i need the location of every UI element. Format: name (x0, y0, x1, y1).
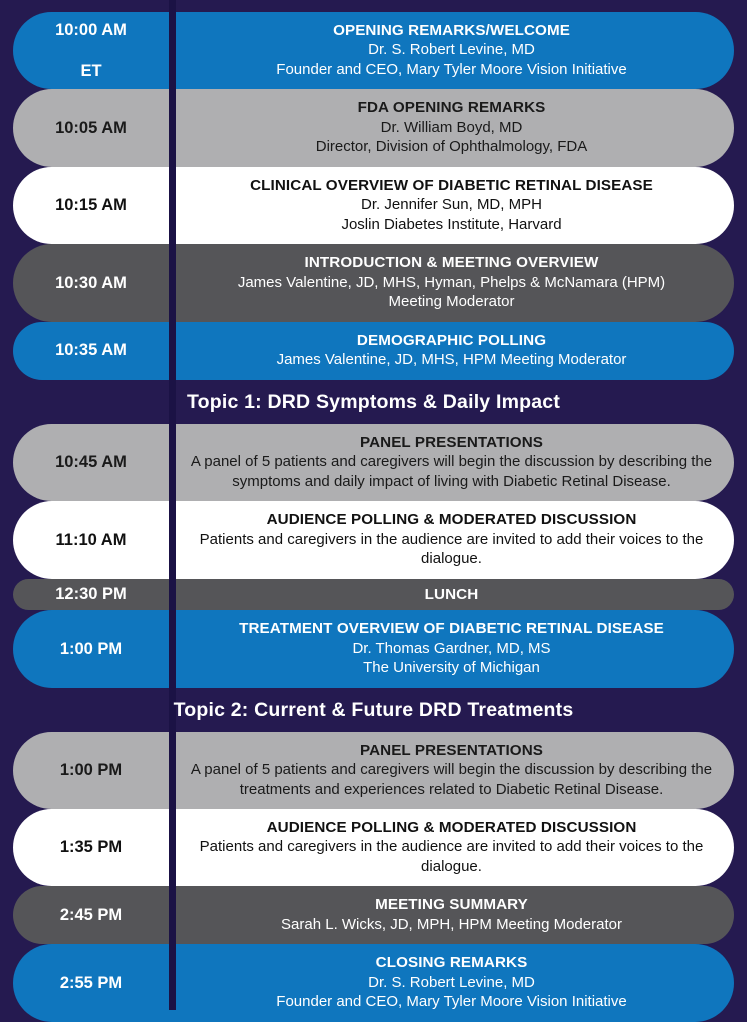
agenda-row: 10:15 AMCLINICAL OVERVIEW OF DIABETIC RE… (13, 167, 734, 244)
agenda-row-detail: Patients and caregivers in the audience … (183, 837, 720, 876)
agenda-row-detail: James Valentine, JD, MHS, Hyman, Phelps … (183, 273, 720, 293)
agenda-row-time-line: 10:45 AM (55, 452, 127, 473)
agenda-row-time-line: 2:45 PM (60, 905, 122, 926)
agenda-row: 10:35 AMDEMOGRAPHIC POLLINGJames Valenti… (13, 322, 734, 380)
agenda-row-time-line: 10:30 AM (55, 273, 127, 294)
agenda-row-detail: Meeting Moderator (183, 292, 720, 312)
agenda-row-title: DEMOGRAPHIC POLLING (183, 331, 720, 350)
agenda-row-title: LUNCH (183, 585, 720, 604)
agenda-row-title: CLINICAL OVERVIEW OF DIABETIC RETINAL DI… (183, 176, 720, 195)
agenda-row-title: PANEL PRESENTATIONS (183, 741, 720, 760)
agenda-row-time: 1:35 PM (13, 809, 169, 886)
agenda-row-title: INTRODUCTION & MEETING OVERVIEW (183, 253, 720, 272)
agenda-row-time-line: 12:30 PM (55, 584, 127, 605)
agenda-row-detail: Dr. Thomas Gardner, MD, MS (183, 639, 720, 659)
agenda-row-detail: Founder and CEO, Mary Tyler Moore Vision… (183, 992, 720, 1012)
agenda-row-title: MEETING SUMMARY (183, 895, 720, 914)
agenda-section: 10:00 AMETOPENING REMARKS/WELCOMEDr. S. … (0, 12, 747, 380)
agenda-row-detail: Dr. Jennifer Sun, MD, MPH (183, 195, 720, 215)
agenda-row-time-line: 10:15 AM (55, 195, 127, 216)
agenda-row-time: 10:15 AM (13, 167, 169, 244)
agenda-row-content: AUDIENCE POLLING & MODERATED DISCUSSIONP… (169, 809, 734, 886)
agenda-row-detail: Dr. S. Robert Levine, MD (183, 40, 720, 60)
agenda-row-time: 1:00 PM (13, 732, 169, 809)
agenda-row: 1:00 PMTREATMENT OVERVIEW OF DIABETIC RE… (13, 610, 734, 687)
agenda-row-detail: James Valentine, JD, MHS, HPM Meeting Mo… (183, 350, 720, 370)
agenda-row-content: AUDIENCE POLLING & MODERATED DISCUSSIONP… (169, 501, 734, 578)
agenda-row-title: PANEL PRESENTATIONS (183, 433, 720, 452)
agenda-row-content: CLINICAL OVERVIEW OF DIABETIC RETINAL DI… (169, 167, 734, 244)
agenda-row: 11:10 AMAUDIENCE POLLING & MODERATED DIS… (13, 501, 734, 578)
agenda-row: 1:35 PMAUDIENCE POLLING & MODERATED DISC… (13, 809, 734, 886)
agenda-row-time: 10:00 AMET (13, 12, 169, 89)
agenda-row-time-line: 10:05 AM (55, 118, 127, 139)
agenda-row: 2:45 PMMEETING SUMMARYSarah L. Wicks, JD… (13, 886, 734, 944)
agenda-row-detail: Dr. William Boyd, MD (183, 118, 720, 138)
agenda-row-title: OPENING REMARKS/WELCOME (183, 21, 720, 40)
agenda-row-time-line: 11:10 AM (56, 530, 127, 551)
agenda-row-title: AUDIENCE POLLING & MODERATED DISCUSSION (183, 818, 720, 837)
agenda-row-title: FDA OPENING REMARKS (183, 98, 720, 117)
agenda-row-time: 10:45 AM (13, 424, 169, 501)
agenda-row-title: TREATMENT OVERVIEW OF DIABETIC RETINAL D… (183, 619, 720, 638)
agenda-row-time-line: 2:55 PM (60, 973, 122, 994)
agenda-row-time: 11:10 AM (13, 501, 169, 578)
agenda-row-time-line: ET (80, 61, 101, 82)
agenda-row: 10:00 AMETOPENING REMARKS/WELCOMEDr. S. … (13, 12, 734, 89)
agenda-row: 10:30 AMINTRODUCTION & MEETING OVERVIEWJ… (13, 244, 734, 321)
agenda-row: 1:00 PMPANEL PRESENTATIONSA panel of 5 p… (13, 732, 734, 809)
agenda-row: 10:45 AMPANEL PRESENTATIONSA panel of 5 … (13, 424, 734, 501)
agenda-row-content: TREATMENT OVERVIEW OF DIABETIC RETINAL D… (169, 610, 734, 687)
topic-heading: Topic 1: DRD Symptoms & Daily Impact (0, 380, 747, 424)
agenda-row-detail: Joslin Diabetes Institute, Harvard (183, 215, 720, 235)
agenda-row-detail: Director, Division of Ophthalmology, FDA (183, 137, 720, 157)
agenda-row-time-line: 1:35 PM (60, 837, 122, 858)
agenda-row-time: 2:55 PM (13, 944, 169, 1021)
agenda-row-title: CLOSING REMARKS (183, 953, 720, 972)
agenda-row-time-line: 10:35 AM (55, 340, 127, 361)
agenda-row-content: DEMOGRAPHIC POLLINGJames Valentine, JD, … (169, 322, 734, 380)
agenda-row-content: OPENING REMARKS/WELCOMEDr. S. Robert Lev… (169, 12, 734, 89)
agenda-row: 2:55 PMCLOSING REMARKSDr. S. Robert Levi… (13, 944, 734, 1021)
agenda-row-time: 10:30 AM (13, 244, 169, 321)
agenda-row-detail: Patients and caregivers in the audience … (183, 530, 720, 569)
agenda-row-detail: Dr. S. Robert Levine, MD (183, 973, 720, 993)
agenda-row-time: 1:00 PM (13, 610, 169, 687)
topic-heading: Topic 2: Current & Future DRD Treatments (0, 688, 747, 732)
agenda-row-detail: Founder and CEO, Mary Tyler Moore Vision… (183, 60, 720, 80)
agenda-row-time-line: 10:00 AM (55, 20, 127, 41)
agenda-row-content: INTRODUCTION & MEETING OVERVIEWJames Val… (169, 244, 734, 321)
agenda-row-content: LUNCH (169, 579, 734, 610)
agenda-row-content: CLOSING REMARKSDr. S. Robert Levine, MDF… (169, 944, 734, 1021)
agenda-row-time-line: 1:00 PM (60, 639, 122, 660)
agenda-row-time-line: 1:00 PM (60, 760, 122, 781)
agenda-row-detail: A panel of 5 patients and caregivers wil… (183, 452, 720, 491)
agenda-row-time: 10:05 AM (13, 89, 169, 166)
agenda-section: Topic 2: Current & Future DRD Treatments… (0, 688, 747, 1022)
agenda-row: 10:05 AMFDA OPENING REMARKSDr. William B… (13, 89, 734, 166)
agenda-row-time: 10:35 AM (13, 322, 169, 380)
agenda-section: Topic 1: DRD Symptoms & Daily Impact10:4… (0, 380, 747, 688)
agenda-row: 12:30 PMLUNCH (13, 579, 734, 610)
agenda-row-time: 12:30 PM (13, 579, 169, 610)
agenda-row-content: FDA OPENING REMARKSDr. William Boyd, MDD… (169, 89, 734, 166)
agenda-row-content: MEETING SUMMARYSarah L. Wicks, JD, MPH, … (169, 886, 734, 944)
agenda-row-detail: The University of Michigan (183, 658, 720, 678)
agenda-row-detail: Sarah L. Wicks, JD, MPH, HPM Meeting Mod… (183, 915, 720, 935)
agenda-row-time: 2:45 PM (13, 886, 169, 944)
agenda-row-detail: A panel of 5 patients and caregivers wil… (183, 760, 720, 799)
agenda-row-title: AUDIENCE POLLING & MODERATED DISCUSSION (183, 510, 720, 529)
agenda-row-content: PANEL PRESENTATIONSA panel of 5 patients… (169, 424, 734, 501)
agenda-row-content: PANEL PRESENTATIONSA panel of 5 patients… (169, 732, 734, 809)
agenda-schedule: 10:00 AMETOPENING REMARKS/WELCOMEDr. S. … (0, 0, 747, 1022)
